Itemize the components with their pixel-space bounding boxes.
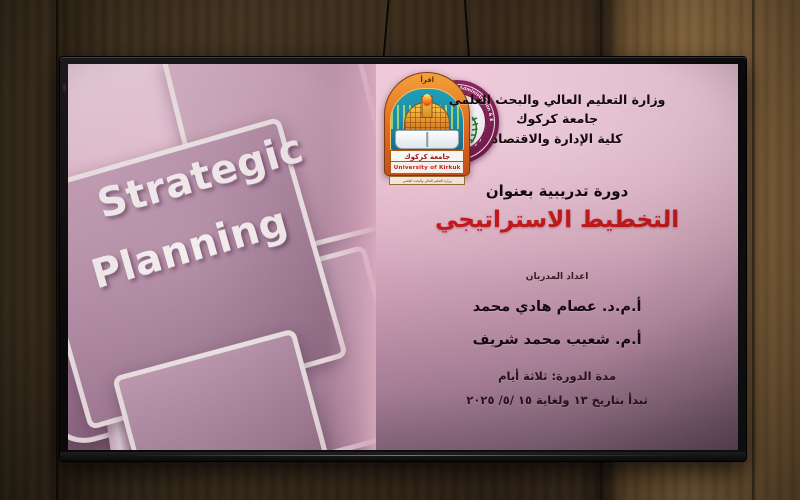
slide-photo-strategic-planning: Strategic Planning bbox=[68, 64, 376, 450]
photo-right-fade bbox=[327, 64, 376, 450]
room-scene: Strategic Planning bbox=[0, 0, 800, 500]
